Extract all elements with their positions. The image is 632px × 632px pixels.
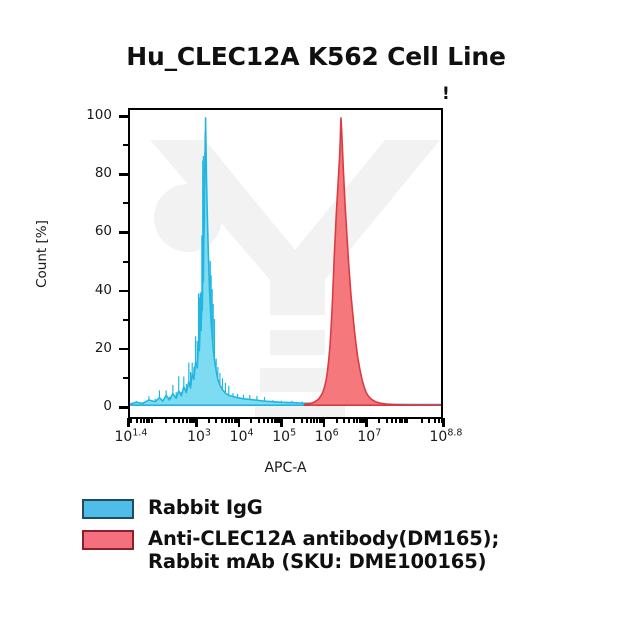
- x-tick-label: 108.8: [430, 429, 463, 445]
- legend-item-anti-clec12a[interactable]: Anti-CLEC12A antibody(DM165); Rabbit mAb…: [82, 527, 602, 573]
- legend-swatch-anti-clec12a: [82, 530, 134, 550]
- y-axis-label: Count [%]: [34, 194, 50, 314]
- x-tick-major: [323, 418, 326, 427]
- histogram-noise-spikes: [136, 156, 315, 403]
- y-tick-major: [119, 406, 128, 409]
- y-tick-label: 80: [78, 165, 112, 181]
- y-tick-major: [119, 231, 128, 234]
- x-tick-label: 103: [187, 429, 211, 445]
- y-tick-major: [119, 348, 128, 351]
- x-tick-label: 105: [272, 429, 296, 445]
- y-tick-label: 60: [78, 223, 112, 239]
- x-tick-major: [127, 418, 130, 427]
- histogram-trace-rabbit-igg: [130, 118, 441, 405]
- x-tick-major: [238, 418, 241, 427]
- legend: Rabbit IgG Anti-CLEC12A antibody(DM165);…: [82, 496, 602, 581]
- histogram-svg: [130, 110, 441, 417]
- legend-label-rabbit-igg: Rabbit IgG: [148, 496, 263, 519]
- y-tick-major: [119, 290, 128, 293]
- y-tick-label: 20: [78, 340, 112, 356]
- x-tick-label: 104: [230, 429, 254, 445]
- x-tick-label: 107: [357, 429, 381, 445]
- legend-label-line-1: Anti-CLEC12A antibody(DM165);: [148, 527, 499, 550]
- legend-label-line-2: Rabbit mAb (SKU: DME100165): [148, 550, 499, 573]
- x-tick-major: [280, 418, 283, 427]
- legend-swatch-rabbit-igg: [82, 499, 134, 519]
- y-tick-label: 0: [78, 398, 112, 414]
- x-tick-label: 106: [315, 429, 339, 445]
- y-tick-major: [119, 173, 128, 176]
- y-tick-label: 40: [78, 282, 112, 298]
- page-title: Hu_CLEC12A K562 Cell Line: [0, 42, 632, 71]
- plot-area: [128, 108, 443, 419]
- corner-artifact-mark: !: [442, 88, 446, 103]
- flow-cytometry-figure: Hu_CLEC12A K562 Cell Line ! Count [%] AP…: [0, 0, 632, 632]
- x-tick-major: [195, 418, 198, 427]
- legend-item-rabbit-igg[interactable]: Rabbit IgG: [82, 496, 602, 519]
- histogram-trace-anti-clec12a: [304, 118, 441, 405]
- x-tick-label: 101.4: [115, 429, 148, 445]
- y-tick-major: [119, 115, 128, 118]
- legend-label-anti-clec12a: Anti-CLEC12A antibody(DM165); Rabbit mAb…: [148, 527, 499, 573]
- x-axis-label: APC-A: [128, 460, 443, 476]
- x-tick-major: [365, 418, 368, 427]
- y-tick-label: 100: [78, 107, 112, 123]
